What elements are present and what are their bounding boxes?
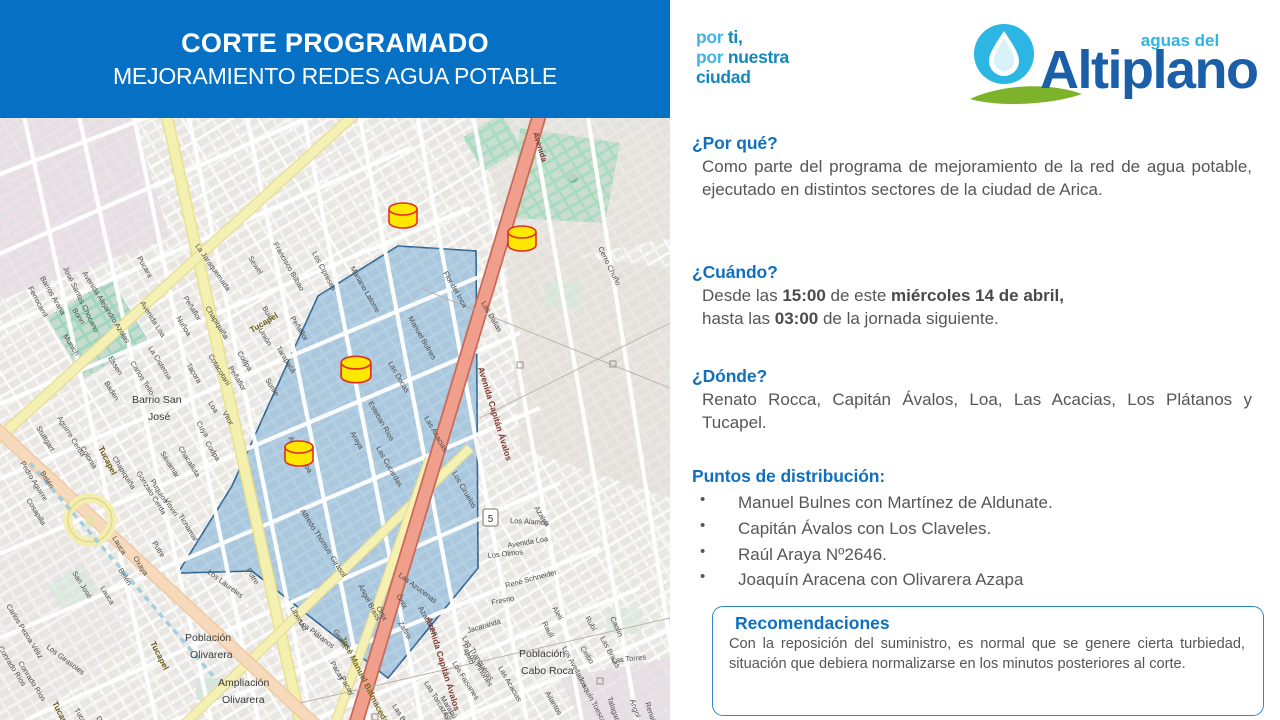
- cuando-date: miércoles 14 de abril,: [891, 286, 1064, 305]
- heading-recomendaciones: Recomendaciones: [735, 613, 1263, 634]
- water-tank-marker[interactable]: [386, 198, 420, 237]
- cuando-text-3: hasta las: [702, 309, 775, 328]
- heading-donde: ¿Dónde?: [692, 366, 1252, 387]
- map-panel: CORTE PROGRAMADO MEJORAMIENTO REDES AGUA…: [0, 0, 670, 720]
- tagline-line-3: ciudad: [696, 68, 789, 88]
- tagline-por-1: por: [696, 27, 728, 47]
- svg-text:Olivarera: Olivarera: [222, 694, 265, 706]
- list-item: Joaquín Aracena con Olivarera Azapa: [700, 567, 1053, 593]
- cuando-text-4: de la jornada siguiente.: [818, 309, 999, 328]
- brand-row: por ti, por nuestra ciudad aguas del: [670, 0, 1280, 125]
- heading-porque: ¿Por qué?: [692, 133, 1252, 154]
- water-tank-marker[interactable]: [282, 436, 316, 475]
- svg-text:5: 5: [488, 514, 494, 525]
- tagline-nuestra: nuestra: [728, 47, 789, 67]
- recommendations-box: Recomendaciones Con la reposición del su…: [712, 606, 1264, 716]
- altiplano-logo: aguas del Altiplano: [962, 16, 1262, 111]
- svg-text:Cabo Roca: Cabo Roca: [521, 665, 574, 677]
- page-title: CORTE PROGRAMADO: [181, 29, 489, 59]
- logo-wordmark: Altiplano: [1040, 40, 1257, 100]
- map-graphic: 5 Barros Arana José Santos Chocano Ferro…: [0, 118, 670, 720]
- list-item: Manuel Bulnes con Martínez de Aldunate.: [700, 490, 1053, 516]
- body-cuando: Desde las 15:00 de este miércoles 14 de …: [702, 285, 1252, 330]
- svg-text:Ampliación: Ampliación: [218, 677, 270, 689]
- infographic-root: CORTE PROGRAMADO MEJORAMIENTO REDES AGUA…: [0, 0, 1280, 720]
- tagline-por-2: por: [696, 47, 728, 67]
- info-content: ¿Por qué? Como parte del programa de mej…: [670, 125, 1280, 720]
- section-cuando: ¿Cuándo? Desde las 15:00 de este miércol…: [670, 262, 1252, 330]
- map-header-banner: CORTE PROGRAMADO MEJORAMIENTO REDES AGUA…: [0, 0, 670, 118]
- body-porque: Como parte del programa de mejoramiento …: [702, 156, 1252, 201]
- water-tank-marker[interactable]: [505, 221, 539, 260]
- info-panel: por ti, por nuestra ciudad aguas del: [670, 0, 1280, 720]
- heading-cuando: ¿Cuándo?: [692, 262, 1252, 283]
- brand-tagline: por ti, por nuestra ciudad: [696, 28, 789, 87]
- heading-puntos: Puntos de distribución:: [692, 466, 1053, 487]
- section-porque: ¿Por qué? Como parte del programa de mej…: [670, 133, 1252, 201]
- tagline-ti: ti,: [728, 27, 743, 47]
- cuando-text-1: Desde las: [702, 286, 782, 305]
- page-subtitle: MEJORAMIENTO REDES AGUA POTABLE: [113, 64, 557, 89]
- section-donde: ¿Dónde? Renato Rocca, Capitán Ávalos, Lo…: [670, 366, 1252, 434]
- svg-text:Población: Población: [519, 648, 565, 660]
- tagline-line-1: por ti,: [696, 28, 789, 48]
- map-canvas[interactable]: 5 Barros Arana José Santos Chocano Ferro…: [0, 118, 670, 720]
- svg-text:Barrio San: Barrio San: [132, 394, 182, 406]
- section-puntos: Puntos de distribución: Manuel Bulnes co…: [670, 466, 1053, 593]
- cuando-end-time: 03:00: [775, 309, 818, 328]
- tagline-line-2: por nuestra: [696, 48, 789, 68]
- body-recomendaciones: Con la reposición del suministro, es nor…: [729, 635, 1245, 675]
- distribution-points-list: Manuel Bulnes con Martínez de Aldunate. …: [700, 490, 1053, 593]
- body-donde: Renato Rocca, Capitán Ávalos, Loa, Las A…: [702, 389, 1252, 434]
- tagline-ciudad: ciudad: [696, 67, 751, 87]
- svg-text:Población: Población: [185, 632, 231, 644]
- cuando-start-time: 15:00: [782, 286, 825, 305]
- list-item: Capitán Ávalos con Los Claveles.: [700, 516, 1053, 542]
- water-tank-marker[interactable]: [338, 351, 374, 392]
- svg-text:José: José: [148, 411, 170, 423]
- water-drop-icon: [974, 24, 1034, 84]
- list-item: Raúl Araya Nº2646.: [700, 542, 1053, 568]
- cuando-text-2: de este: [826, 286, 891, 305]
- svg-text:Olivarera: Olivarera: [190, 649, 233, 661]
